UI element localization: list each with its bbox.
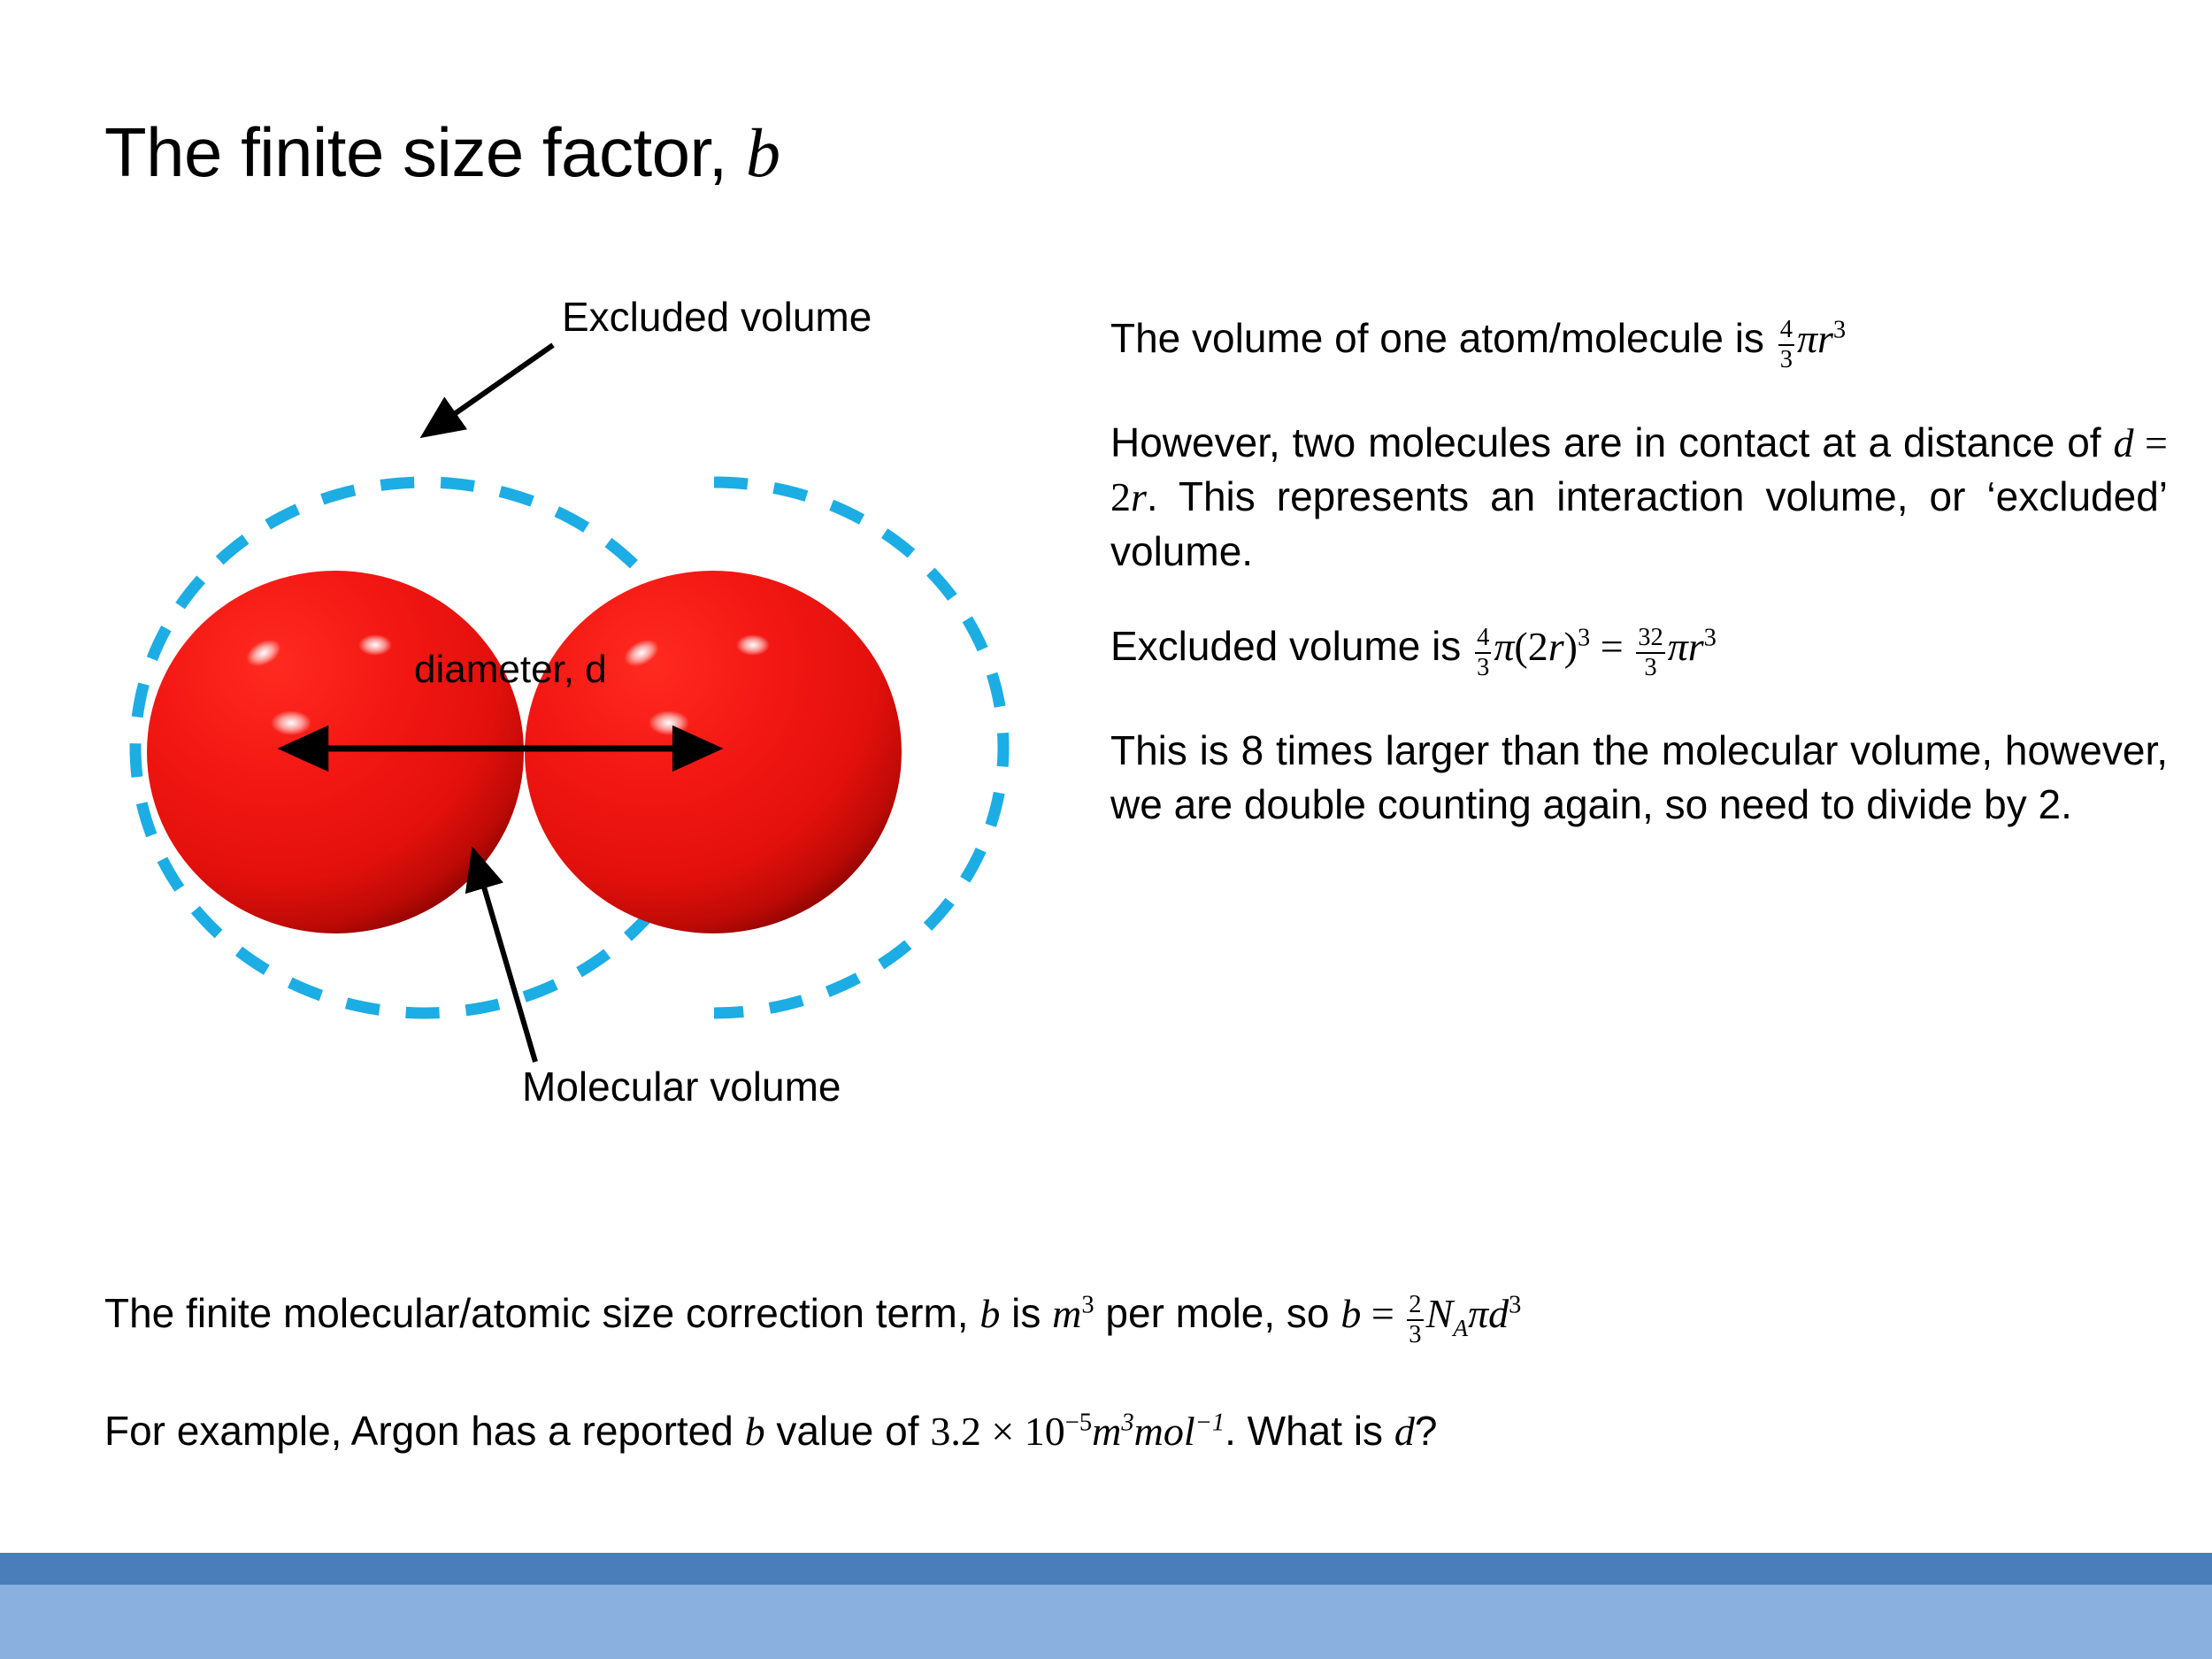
fraction-denominator: 3 xyxy=(1407,1322,1423,1348)
excluded-volume-lead: Excluded volume is xyxy=(1110,623,1472,669)
fraction-numerator: 4 xyxy=(1475,625,1491,651)
excluded-volume-label: Excluded volume xyxy=(562,296,872,337)
b-def-part3: per mole, so xyxy=(1094,1290,1341,1336)
pi-symbol-3: π xyxy=(1468,1291,1488,1336)
pi-symbol-2: π xyxy=(1668,624,1688,669)
explanation-column: The volume of one atom/molecule is 43πr3… xyxy=(1110,311,2168,872)
footer-bar-dark xyxy=(0,1553,2212,1585)
argon-part4: ? xyxy=(1415,1408,1438,1454)
paragraph-atom-volume: The volume of one atom/molecule is 43πr3 xyxy=(1110,311,2168,375)
d-symbol-2: d xyxy=(1488,1291,1509,1336)
page-title: The finite size factor, b xyxy=(104,115,780,191)
d-symbol: d xyxy=(2113,420,2133,465)
argon-b-value: 3.2 xyxy=(930,1409,981,1454)
molecule-sphere-right xyxy=(525,571,902,933)
b-equals-sign: = xyxy=(1361,1291,1404,1336)
fraction-denominator: 3 xyxy=(1636,655,1665,681)
m-symbol: m xyxy=(1052,1291,1081,1336)
b-symbol-3: b xyxy=(745,1409,765,1454)
b-def-part1: The finite molecular/atomic size correct… xyxy=(104,1290,979,1336)
fraction-denominator: 3 xyxy=(1475,655,1491,681)
atom-volume-lead: The volume of one atom/molecule is xyxy=(1110,315,1776,361)
radius-exponent: 3 xyxy=(1833,317,1846,344)
fraction-two-thirds: 23 xyxy=(1407,1292,1423,1348)
fraction-four-thirds-2: 43 xyxy=(1475,625,1491,681)
b-def-part2: is xyxy=(1000,1290,1052,1336)
fraction-numerator: 32 xyxy=(1636,625,1665,651)
diagram-graphic xyxy=(71,292,1062,1194)
unit-mole-exponent: −1 xyxy=(1195,1409,1225,1437)
b-symbol-2: b xyxy=(1340,1291,1361,1336)
paren-r-symbol: r xyxy=(1548,624,1564,669)
times-sign: × xyxy=(981,1409,1025,1454)
footer-bar-light xyxy=(0,1585,2212,1659)
pi-symbol-1: π xyxy=(1494,624,1514,669)
avogadro-symbol: N xyxy=(1426,1291,1454,1336)
unit-metre: m xyxy=(1092,1409,1121,1454)
contact-distance-part1: However, two molecules are in contact at… xyxy=(1110,419,2113,465)
r-symbol: r xyxy=(1131,474,1147,519)
unit-mole: mol xyxy=(1134,1409,1195,1454)
paren-open-2: (2 xyxy=(1514,624,1548,669)
radius-symbol: r xyxy=(1817,316,1833,361)
diameter-label: diameter, d xyxy=(414,650,607,689)
unit-metre-exponent: 3 xyxy=(1121,1409,1133,1437)
paragraph-contact-distance: However, two molecules are in contact at… xyxy=(1110,416,2168,579)
paragraph-excluded-volume-equation: Excluded volume is 43π(2r)3 = 323πr3 xyxy=(1110,619,2168,683)
radius-exponent-2: 3 xyxy=(1704,624,1717,651)
paren-close: ) xyxy=(1564,624,1578,669)
molecule-sphere-left xyxy=(147,571,524,933)
fraction-numerator: 2 xyxy=(1407,1292,1423,1318)
pi-symbol: π xyxy=(1797,316,1817,361)
summary-block: The finite molecular/atomic size correct… xyxy=(104,1287,2139,1513)
argon-part2: value of xyxy=(765,1408,931,1454)
fraction-numerator: 4 xyxy=(1778,317,1794,343)
argon-part3: . What is xyxy=(1225,1408,1394,1454)
fraction-thirty-two-thirds: 323 xyxy=(1636,625,1665,681)
fraction-denominator: 3 xyxy=(1778,347,1794,373)
excluded-volume-leader xyxy=(426,345,553,434)
paren-exponent: 3 xyxy=(1578,624,1590,651)
molecular-volume-leader xyxy=(474,854,535,1062)
d-symbol-3: d xyxy=(1394,1409,1415,1454)
line-argon-example: For example, Argon has a reported b valu… xyxy=(104,1405,2139,1458)
line-b-definition: The finite molecular/atomic size correct… xyxy=(104,1287,2139,1350)
equals-sign: = xyxy=(1590,624,1633,669)
power-base: 10 xyxy=(1025,1409,1065,1454)
fraction-four-thirds: 43 xyxy=(1778,317,1794,373)
contact-distance-part2: . This represents an interaction volume,… xyxy=(1110,473,2168,573)
argon-part1: For example, Argon has a reported xyxy=(104,1408,745,1454)
paragraph-double-counting: This is 8 times larger than the molecula… xyxy=(1110,724,2168,832)
excluded-volume-diagram: Excluded volume Molecular volume diamete… xyxy=(71,292,1062,1194)
d-exponent: 3 xyxy=(1509,1292,1521,1319)
radius-symbol-2: r xyxy=(1688,624,1704,669)
avogadro-subscript: A xyxy=(1453,1314,1468,1341)
page-title-text: The finite size factor, xyxy=(104,113,746,191)
b-symbol-1: b xyxy=(979,1291,1000,1336)
m-exponent: 3 xyxy=(1081,1292,1094,1319)
page-title-symbol: b xyxy=(746,114,780,191)
power-exponent: −5 xyxy=(1065,1409,1092,1437)
molecular-volume-label: Molecular volume xyxy=(522,1066,841,1107)
